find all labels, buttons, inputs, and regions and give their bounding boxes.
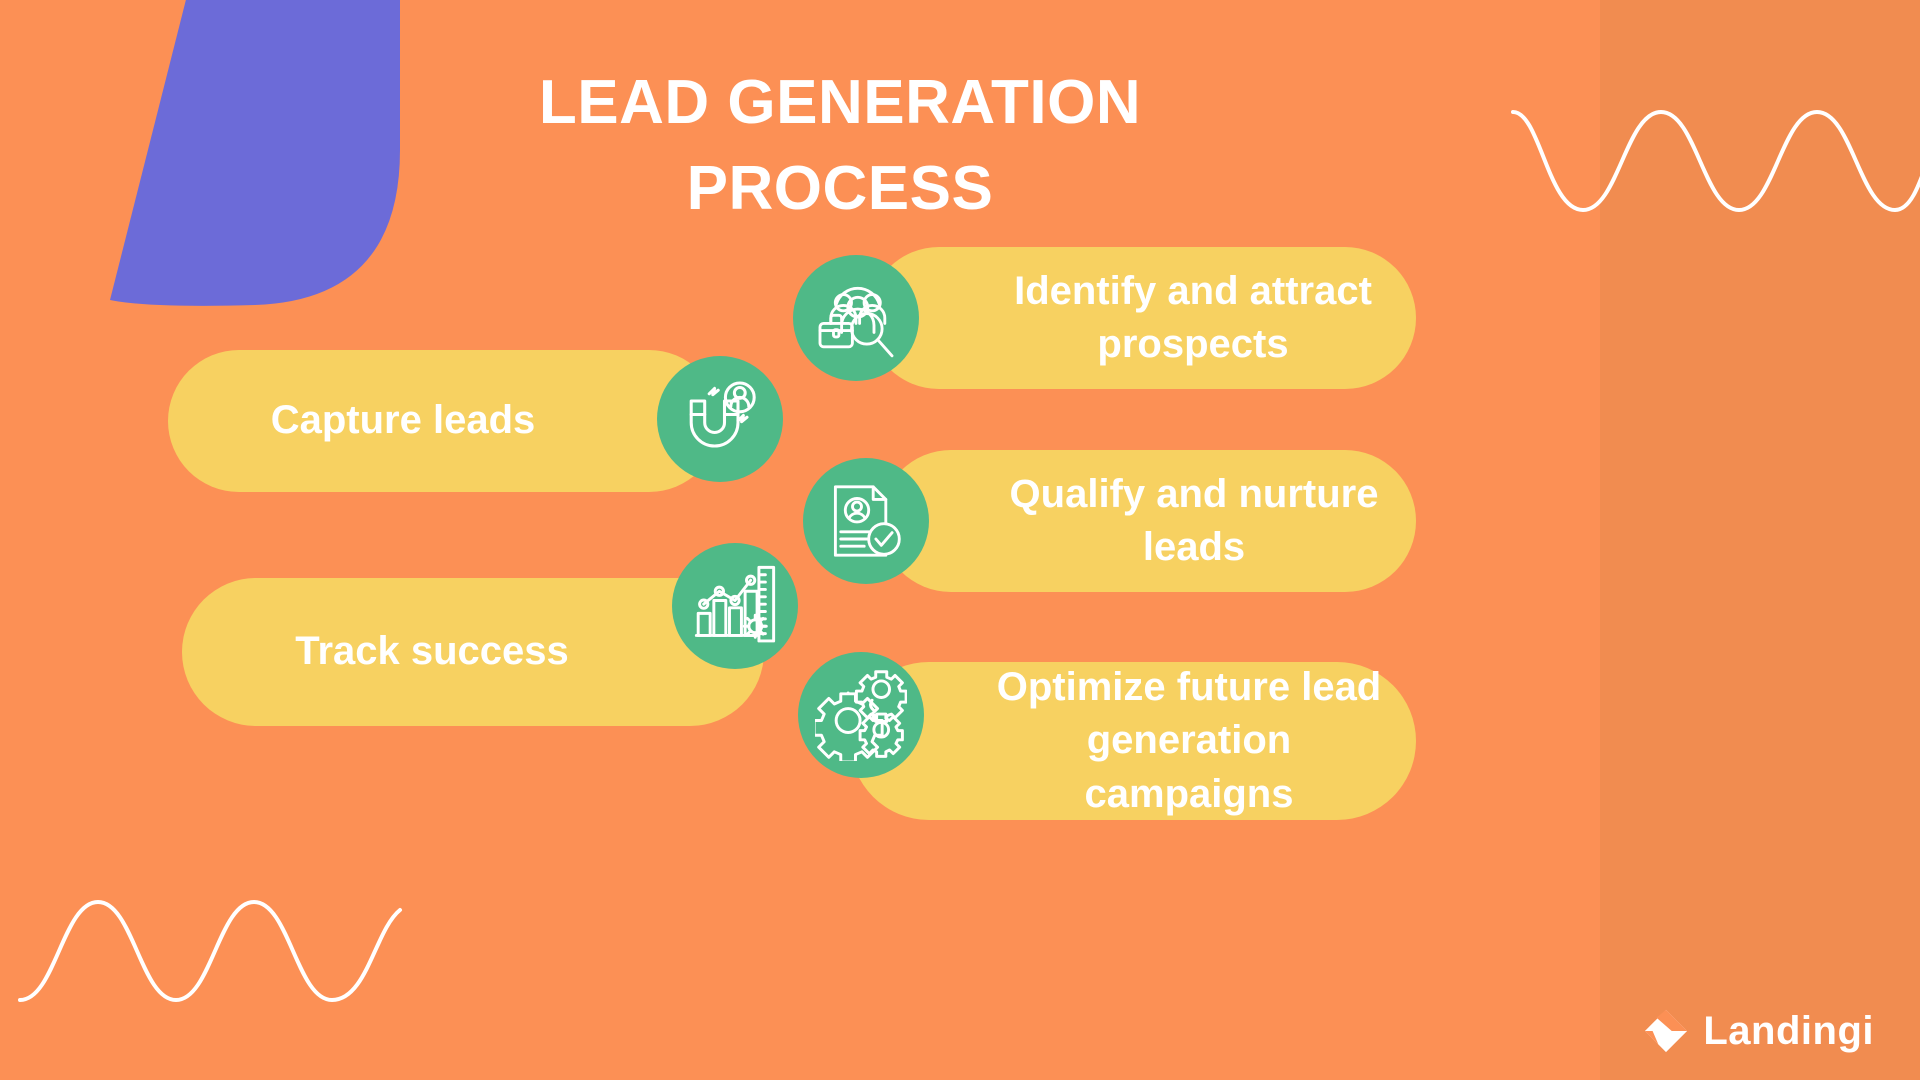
step-label: Optimize future lead generation campaign… bbox=[850, 661, 1416, 821]
step-pill-identify[interactable]: Identify and attract prospects bbox=[868, 247, 1416, 389]
people-search-briefcase-icon bbox=[793, 255, 919, 381]
step-label: Identify and attract prospects bbox=[868, 265, 1416, 371]
step-pill-capture[interactable]: Capture leads bbox=[168, 350, 720, 492]
infographic-canvas: LEAD GENERATION PROCESS Identify and att… bbox=[0, 0, 1920, 1080]
landingi-diamond-icon bbox=[1643, 1008, 1689, 1054]
step-pill-qualify[interactable]: Qualify and nurture leads bbox=[880, 450, 1416, 592]
landingi-wordmark: Landingi bbox=[1703, 1009, 1874, 1054]
gears-icon bbox=[798, 652, 924, 778]
step-label: Track success bbox=[182, 625, 764, 678]
magnet-lead-icon bbox=[657, 356, 783, 482]
step-label: Qualify and nurture leads bbox=[880, 468, 1416, 574]
document-profile-check-icon bbox=[803, 458, 929, 584]
step-label: Capture leads bbox=[168, 394, 720, 447]
page-title: LEAD GENERATION PROCESS bbox=[480, 60, 1200, 231]
bar-chart-ruler-gear-icon bbox=[672, 543, 798, 669]
step-pill-optimize[interactable]: Optimize future lead generation campaign… bbox=[850, 662, 1416, 820]
landingi-logo[interactable]: Landingi bbox=[1643, 1008, 1874, 1054]
